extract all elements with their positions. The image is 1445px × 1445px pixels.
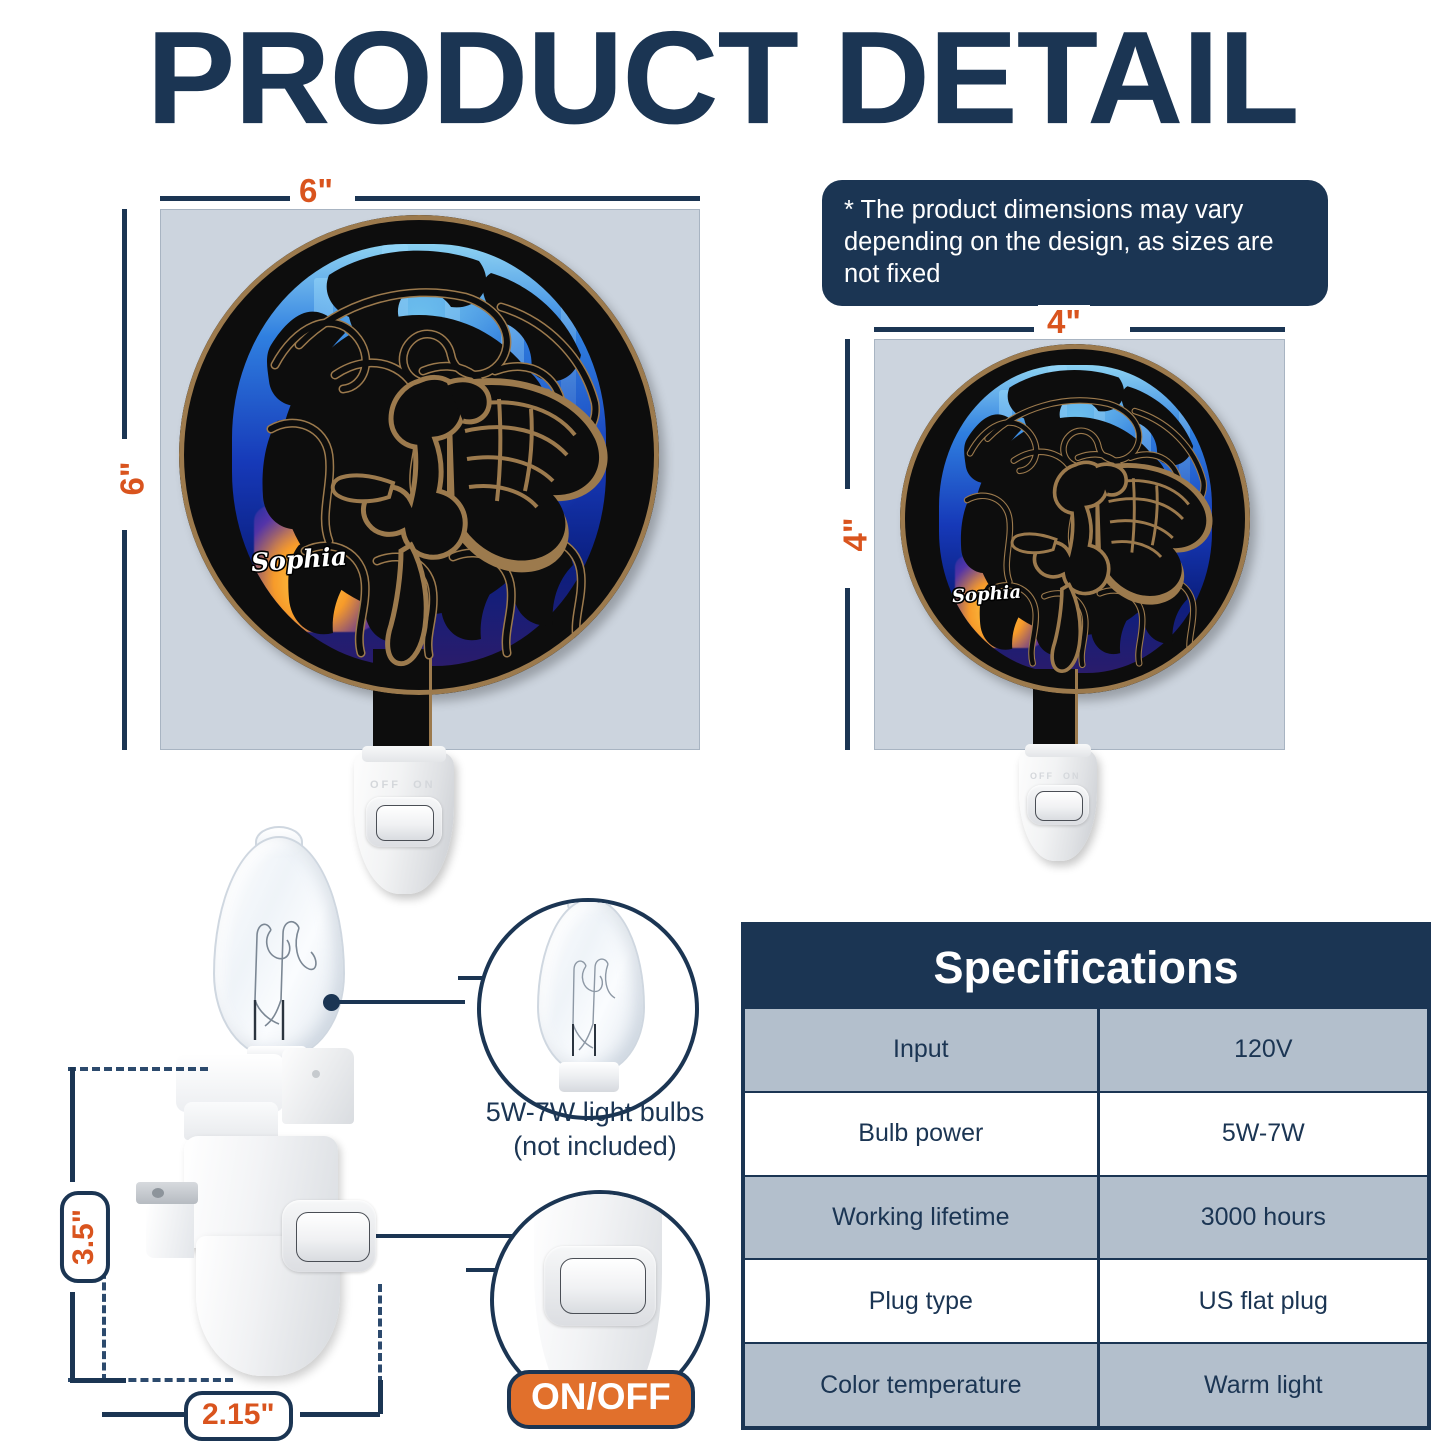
magnifier-bulb [477, 898, 699, 1120]
plug-collar-small [1025, 744, 1091, 757]
mag-bulb-filament [555, 936, 625, 1060]
specifications-rows: Input120VBulb power5W-7WWorking lifetime… [745, 1009, 1427, 1426]
laser-cut-overlay-large [179, 215, 659, 695]
dim-line-depth-a [102, 1412, 190, 1417]
dim-line-depth-right-tick [378, 1380, 383, 1414]
spec-key: Color temperature [745, 1344, 1100, 1426]
plug-socket-ring [184, 1102, 278, 1140]
product-detail-infographic: PRODUCT DETAIL * The product dimensions … [0, 0, 1445, 1445]
spec-key: Working lifetime [745, 1177, 1100, 1259]
bulb-callout-line [337, 1000, 465, 1004]
bulb-caption-line1: 5W-7W light bulbs [450, 1096, 740, 1130]
dimension-line-top-left-b [355, 196, 700, 201]
plug-power-switch[interactable] [296, 1212, 370, 1262]
night-light-product-small: Sophia OFF ON [874, 339, 1285, 899]
product-disc-large: Sophia [179, 215, 659, 695]
plug-height-badge: 3.5" [60, 1191, 110, 1283]
power-switch-small[interactable] [1035, 791, 1083, 821]
page-title: PRODUCT DETAIL [0, 10, 1445, 149]
dimension-line-left-b [122, 530, 127, 750]
dimension-label-width-small: 4" [1038, 305, 1090, 338]
table-row: Working lifetime3000 hours [745, 1175, 1427, 1259]
switch-legend-small: OFF ON [1030, 771, 1081, 781]
power-switch-large[interactable] [376, 805, 434, 841]
specifications-table: Specifications Input120VBulb power5W-7WW… [741, 922, 1431, 1430]
dimension-label-height-large: 6" [116, 447, 149, 511]
plug-prong-upper [136, 1182, 198, 1204]
spec-value: US flat plug [1100, 1260, 1427, 1342]
dim-line-depth-b [300, 1412, 380, 1417]
dimension-line-right-b [845, 588, 850, 750]
spec-value: 120V [1100, 1009, 1427, 1091]
disc-body-large [179, 215, 659, 695]
dim-line-height-a [70, 1067, 75, 1182]
spec-value: Warm light [1100, 1344, 1427, 1426]
dimension-line-right-a [845, 339, 850, 489]
mag-power-switch[interactable] [560, 1258, 646, 1314]
magnifier-bulb-content [481, 902, 695, 1116]
magnifier-switch-connector [466, 1268, 496, 1272]
bulb-caption: 5W-7W light bulbs (not included) [450, 1096, 740, 1164]
plug-prong-block [146, 1204, 194, 1258]
plug-mount-bracket [282, 1048, 354, 1124]
spec-key: Bulb power [745, 1093, 1100, 1175]
magnifier-bulb-connector [458, 976, 484, 980]
table-row: Input120V [745, 1009, 1427, 1091]
spec-value: 3000 hours [1100, 1177, 1427, 1259]
spec-key: Input [745, 1009, 1100, 1091]
dim-line-height-b [70, 1292, 75, 1382]
laser-cut-overlay-small [900, 344, 1250, 694]
table-row: Bulb power5W-7W [745, 1091, 1427, 1175]
switch-legend-large: OFF ON [370, 779, 436, 791]
plug-prong-hole [152, 1188, 164, 1198]
dimension-label-width-large: 6" [290, 174, 342, 207]
dimension-line-top-right-a [874, 327, 1034, 332]
dimension-line-top-right-b [1130, 327, 1285, 332]
spec-value: 5W-7W [1100, 1093, 1427, 1175]
bulb-filament [233, 888, 325, 1048]
dimension-line-left-a [122, 209, 127, 439]
disc-body-small [900, 344, 1250, 694]
dimension-line-top-left-a [160, 196, 290, 201]
guide-right-vertical [378, 1284, 382, 1384]
night-light-product-large: Sophia OFF ON [160, 209, 700, 899]
table-row: Color temperatureWarm light [745, 1342, 1427, 1426]
dimension-disclaimer-note: * The product dimensions may vary depend… [822, 180, 1328, 306]
spec-key: Plug type [745, 1260, 1100, 1342]
onoff-badge: ON/OFF [507, 1370, 695, 1429]
dim-line-bottom-stub [70, 1378, 126, 1383]
dimension-label-height-small: 4" [839, 503, 872, 567]
bulb-caption-line2: (not included) [450, 1130, 740, 1164]
specifications-title: Specifications [745, 926, 1427, 1009]
product-disc-small: Sophia [900, 344, 1250, 694]
plug-depth-badge: 2.15" [184, 1391, 293, 1441]
mag-bulb-cap [559, 1062, 619, 1092]
bracket-hole [312, 1070, 320, 1078]
table-row: Plug typeUS flat plug [745, 1258, 1427, 1342]
plug-collar-large [362, 746, 446, 762]
guide-top-horizontal [68, 1067, 208, 1071]
